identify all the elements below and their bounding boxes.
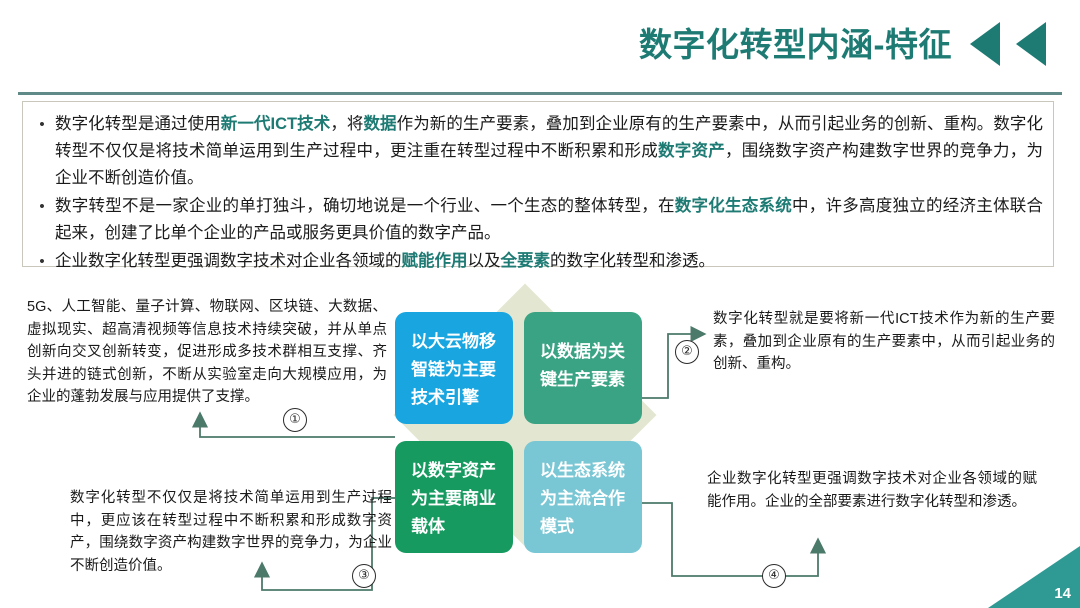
diagram-box-data[interactable]: 以数据为关键生产要素 <box>524 312 642 424</box>
bullet-highlight: 赋能作用 <box>402 252 468 270</box>
bullet-segment: 数字转型不是一家企业的单打独斗，确切地说是一个行业、一个生态的整体转型，在 <box>55 197 675 215</box>
connector-4 <box>642 503 818 576</box>
annotation-number-2: ② <box>675 340 699 364</box>
annotation-text-4: 企业数字化转型更强调数字技术对企业各领域的赋能作用。企业的全部要素进行数字化转型… <box>707 468 1037 513</box>
annotation-text-1: 5G、人工智能、量子计算、物联网、区块链、大数据、虚拟现实、超高清视频等信息技术… <box>27 296 387 409</box>
diagram-box-asset-label: 以数字资产为主要商业载体 <box>411 461 496 536</box>
bullet-text: 企业数字化转型更强调数字技术对企业各领域的赋能作用以及全要素的数字化转型和渗透。 <box>55 248 1043 275</box>
bullet-text: 数字转型不是一家企业的单打独斗，确切地说是一个行业、一个生态的整体转型，在数字化… <box>55 193 1043 247</box>
bullet-marker: • <box>29 248 55 275</box>
bullet-item: • 数字转型不是一家企业的单打独斗，确切地说是一个行业、一个生态的整体转型，在数… <box>29 193 1043 247</box>
page-title: 数字化转型内涵-特征 <box>639 18 952 66</box>
diagram-box-data-label: 以数据为关键生产要素 <box>540 342 625 389</box>
annotation-number-4: ④ <box>762 564 786 588</box>
bullet-highlight: 数据 <box>363 115 396 133</box>
bullet-marker: • <box>29 193 55 220</box>
slide-canvas: 数字化转型内涵-特征 • 数字化转型是通过使用新一代ICT技术，将数据作为新的生… <box>0 0 1080 608</box>
annotation-text-2: 数字化转型就是要将新一代ICT技术作为新的生产要素，叠加到企业原有的生产要素中，… <box>713 308 1055 376</box>
bullet-segment: ，将 <box>330 115 363 133</box>
diagram-box-ecosystem[interactable]: 以生态系统为主流合作模式 <box>524 441 642 553</box>
bullet-segment: 数字化转型是通过使用 <box>55 115 221 133</box>
bullet-segment: 企业数字化转型更强调数字技术对企业各领域的 <box>55 252 402 270</box>
diagram-box-technology[interactable]: 以大云物移智链为主要技术引擎 <box>395 312 513 424</box>
bullet-text: 数字化转型是通过使用新一代ICT技术，将数据作为新的生产要素，叠加到企业原有的生… <box>55 111 1043 192</box>
annotation-text-3: 数字化转型不仅仅是将技术简单运用到生产过程中，更应该在转型过程中不断积累和形成数… <box>70 487 392 577</box>
header-divider <box>18 92 1062 95</box>
bullet-item: • 数字化转型是通过使用新一代ICT技术，将数据作为新的生产要素，叠加到企业原有… <box>29 111 1043 192</box>
page-number: 14 <box>1054 585 1071 602</box>
bullet-segment: 以及 <box>468 252 501 270</box>
bullet-item: • 企业数字化转型更强调数字技术对企业各领域的赋能作用以及全要素的数字化转型和渗… <box>29 248 1043 275</box>
diagram-box-technology-label: 以大云物移智链为主要技术引擎 <box>411 332 496 407</box>
bullet-highlight: 全要素 <box>501 252 551 270</box>
annotation-number-1: ① <box>283 408 307 432</box>
double-chevron-left-icon <box>958 22 1058 66</box>
bullet-marker: • <box>29 111 55 138</box>
bullet-highlight: 新一代ICT技术 <box>221 115 331 133</box>
summary-text-box: • 数字化转型是通过使用新一代ICT技术，将数据作为新的生产要素，叠加到企业原有… <box>22 101 1054 267</box>
bullet-highlight: 数字化生态系统 <box>675 197 792 215</box>
bullet-highlight: 数字资产 <box>658 142 725 160</box>
diagram-box-ecosystem-label: 以生态系统为主流合作模式 <box>540 461 625 536</box>
annotation-number-3: ③ <box>352 564 376 588</box>
bullet-segment: 的数字化转型和渗透。 <box>550 252 715 270</box>
diagram-box-asset[interactable]: 以数字资产为主要商业载体 <box>395 441 513 553</box>
